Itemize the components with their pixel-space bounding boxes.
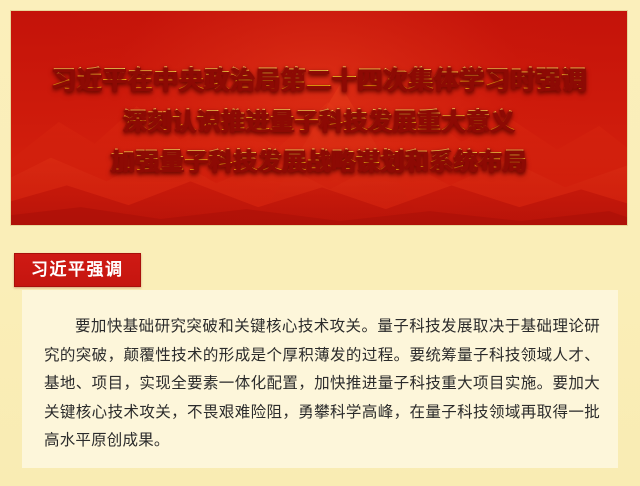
article-panel: 要加快基础研究突破和关键核心技术攻关。量子科技发展取决于基础理论研究的突破，颠覆… — [22, 290, 618, 468]
hero-title-line-3: 加强量子科技发展战略谋划和系统布局 — [111, 148, 528, 176]
article-section: 习近平强调 要加快基础研究突破和关键核心技术攻关。量子科技发展取决于基础理论研究… — [0, 234, 640, 486]
hero-title-group: 习近平在中央政治局第二十四次集体学习时强调 深刻认识推进量子科技发展重大意义 加… — [11, 11, 627, 225]
poster-page: 习近平在中央政治局第二十四次集体学习时强调 深刻认识推进量子科技发展重大意义 加… — [0, 0, 640, 486]
hero-title-line-2: 深刻认识推进量子科技发展重大意义 — [123, 108, 515, 136]
article-body-text: 要加快基础研究突破和关键核心技术攻关。量子科技发展取决于基础理论研究的突破，颠覆… — [44, 312, 600, 455]
hero-title-line-1: 习近平在中央政治局第二十四次集体学习时强调 — [51, 66, 587, 95]
section-badge: 习近平强调 — [14, 253, 141, 287]
hero-banner: 习近平在中央政治局第二十四次集体学习时强调 深刻认识推进量子科技发展重大意义 加… — [10, 10, 628, 226]
